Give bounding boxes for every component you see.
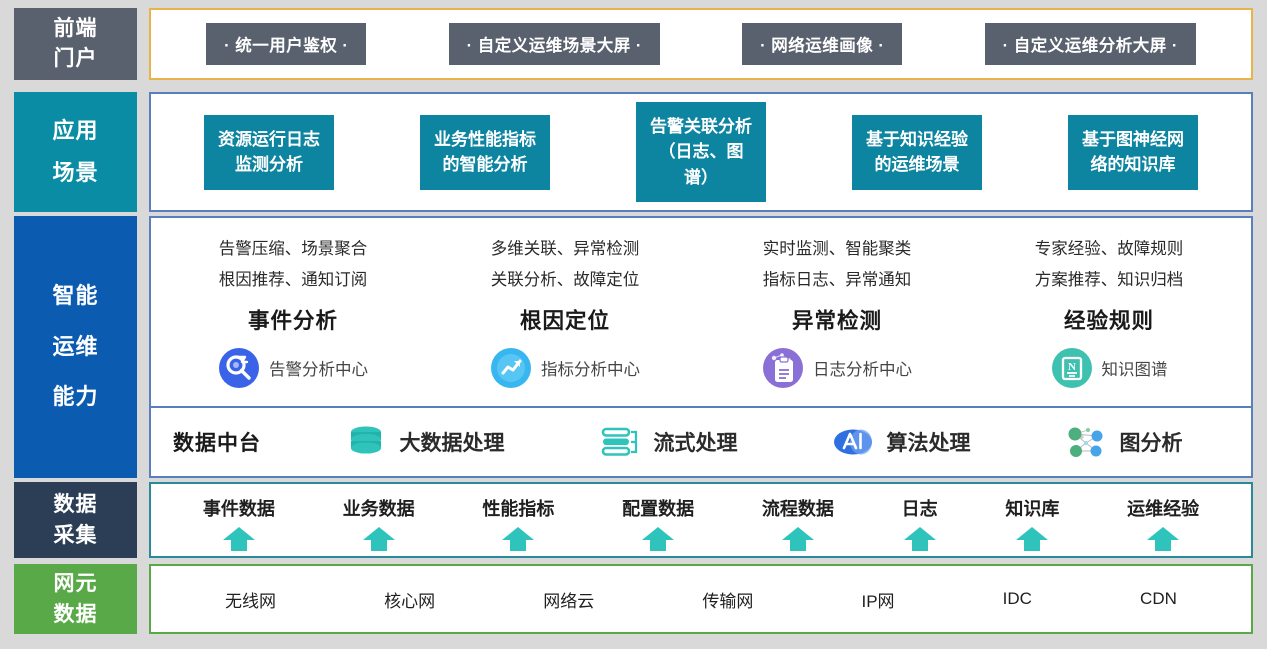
row-aiops-capability: 智能 运维 能力 告警压缩、场景聚合 根因推荐、通知订阅 事件分析 [0,216,1267,478]
collection-label-line2: 采集 [54,520,98,552]
database-icon [344,423,388,461]
ne-item-core-network[interactable]: 核心网 [384,587,435,612]
scenario-chip-business-kpi[interactable]: 业务性能指标 的智能分析 [420,115,550,190]
platform-item-stream[interactable]: 流式处理 [598,423,738,461]
collection-item-label: 知识库 [1005,495,1059,521]
portal-chip-custom-ops-dashboard[interactable]: · 自定义运维场景大屏 · [449,23,660,65]
capability-icon-label: 知识图谱 [1102,356,1168,380]
collection-item-process-data[interactable]: 流程数据 [762,495,834,552]
platform-item-label: 图分析 [1120,427,1183,457]
ne-item-ip-network[interactable]: IP网 [861,587,894,612]
collection-panel: 事件数据 业务数据 性能指标 [149,482,1253,558]
capability-icon-label: 日志分析中心 [813,356,912,380]
ne-label-line1: 网元 [54,568,98,600]
collection-item-label: 流程数据 [762,495,834,521]
collection-item-logs[interactable]: 日志 [902,495,938,552]
capability-title: 异常检测 [792,304,882,335]
capability-desc: 多维关联、异常检测 关联分析、故障定位 [491,234,640,295]
arrow-up-icon [500,526,536,552]
capability-title: 经验规则 [1064,304,1154,335]
ne-item-network-cloud[interactable]: 网络云 [543,587,594,612]
graph-network-icon [1064,423,1108,461]
arrow-up-icon [780,526,816,552]
svg-text:N: N [1068,361,1076,373]
ne-item-wireless[interactable]: 无线网 [225,587,276,612]
collection-item-label: 业务数据 [343,495,415,521]
portal-label-line1: 前端 [54,14,98,44]
capability-title: 根因定位 [520,304,610,335]
capability-label-line2: 运维 [52,322,98,373]
capability-icon-label: 告警分析中心 [269,356,368,380]
capability-column-event-analysis: 告警压缩、场景聚合 根因推荐、通知订阅 事件分析 告 [157,234,429,396]
collection-item-label: 运维经验 [1127,495,1199,521]
capability-icon-row[interactable]: N 知识图谱 [1051,347,1168,389]
collection-item-label: 配置数据 [622,495,694,521]
capability-desc: 告警压缩、场景聚合 根因推荐、通知订阅 [219,234,368,295]
capability-column-anomaly-detection: 实时监测、智能聚类 指标日志、异常通知 异常检测 [701,234,973,396]
portal-chip-network-ops-profile[interactable]: · 网络运维画像 · [742,23,902,65]
capability-icon-row[interactable]: 指标分析中心 [490,347,640,389]
ne-label-line2: 数据 [54,599,98,631]
row-network-element-data: 网元 数据 无线网 核心网 网络云 传输网 IP网 IDC CDN [0,564,1267,634]
collection-items: 事件数据 业务数据 性能指标 [169,489,1233,552]
collection-item-label: 日志 [902,495,938,521]
row-label-application-scenarios: 应用 场景 [14,92,137,212]
row-label-front-end-portal: 前端 门户 [14,8,137,80]
arrow-up-icon [1014,526,1050,552]
arrow-up-icon [221,526,257,552]
arrow-up-icon [902,526,938,552]
capability-icon-row[interactable]: 日志分析中心 [762,347,912,389]
trend-chart-icon [490,347,532,389]
portal-panel: · 统一用户鉴权 · · 自定义运维场景大屏 · · 网络运维画像 · · 自定… [149,8,1253,80]
row-label-data-collection: 数据 采集 [14,482,137,558]
capability-icon-label: 指标分析中心 [541,356,640,380]
ne-item-idc[interactable]: IDC [1003,589,1032,609]
platform-item-algorithm[interactable]: 算法处理 [831,423,971,461]
platform-item-label: 大数据处理 [400,427,505,457]
collection-item-business-data[interactable]: 业务数据 [343,495,415,552]
arrow-up-icon [361,526,397,552]
capability-icon-row[interactable]: 告警分析中心 [218,347,368,389]
capability-label-line1: 智能 [52,271,98,322]
collection-item-label: 事件数据 [203,495,275,521]
platform-item-graph-analysis[interactable]: 图分析 [1064,423,1183,461]
scenario-chip-gnn-knowledge-base[interactable]: 基于图神经网 络的知识库 [1068,115,1198,190]
scenario-panel: 资源运行日志 监测分析 业务性能指标 的智能分析 告警关联分析 （日志、图谱） … [149,92,1253,212]
row-label-network-element-data: 网元 数据 [14,564,137,634]
collection-item-knowledge-base[interactable]: 知识库 [1005,495,1059,552]
data-platform-title: 数据中台 [173,427,261,457]
row-application-scenarios: 应用 场景 资源运行日志 监测分析 业务性能指标 的智能分析 告警关联分析 （日… [0,92,1267,212]
knowledge-doc-icon: N [1051,347,1093,389]
platform-item-big-data[interactable]: 大数据处理 [344,423,505,461]
collection-item-performance-kpi[interactable]: 性能指标 [482,495,554,552]
clipboard-log-icon [762,347,804,389]
portal-chip-auth[interactable]: · 统一用户鉴权 · [206,23,366,65]
aiops-architecture-diagram: 前端 门户 · 统一用户鉴权 · · 自定义运维场景大屏 · · 网络运维画像 … [0,0,1267,649]
collection-item-label: 性能指标 [482,495,554,521]
collection-label-line1: 数据 [54,489,98,521]
scenario-chip-resource-log[interactable]: 资源运行日志 监测分析 [204,115,334,190]
portal-chip-custom-analysis-dashboard[interactable]: · 自定义运维分析大屏 · [985,23,1196,65]
capability-title: 事件分析 [248,304,338,335]
scenario-chip-knowledge-ops[interactable]: 基于知识经验 的运维场景 [852,115,982,190]
arrow-up-icon [1145,526,1181,552]
collection-item-event-data[interactable]: 事件数据 [203,495,275,552]
collection-item-config-data[interactable]: 配置数据 [622,495,694,552]
arrow-up-icon [640,526,676,552]
ne-item-cdn[interactable]: CDN [1140,589,1177,609]
scenario-label-line2: 场景 [52,152,98,194]
capability-desc: 专家经验、故障规则 方案推荐、知识归档 [1035,234,1184,295]
collection-item-ops-experience[interactable]: 运维经验 [1127,495,1199,552]
stream-flow-icon [598,423,642,461]
row-label-aiops-capability: 智能 运维 能力 [14,216,137,478]
scenario-label-line1: 应用 [52,110,98,152]
capability-panel: 告警压缩、场景聚合 根因推荐、通知订阅 事件分析 告 [149,216,1253,408]
alert-search-icon [218,347,260,389]
capability-label-line3: 能力 [52,372,98,423]
ai-icon [831,423,875,461]
portal-label-line2: 门户 [54,44,98,74]
platform-item-label: 算法处理 [887,427,971,457]
capability-desc: 实时监测、智能聚类 指标日志、异常通知 [763,234,912,295]
row-front-end-portal: 前端 门户 · 统一用户鉴权 · · 自定义运维场景大屏 · · 网络运维画像 … [0,8,1267,80]
platform-item-label: 流式处理 [654,427,738,457]
network-element-panel: 无线网 核心网 网络云 传输网 IP网 IDC CDN [149,564,1253,634]
capability-column-root-cause: 多维关联、异常检测 关联分析、故障定位 根因定位 指标分析中心 [429,234,701,396]
capability-stack: 告警压缩、场景聚合 根因推荐、通知订阅 事件分析 告 [149,216,1253,478]
capability-column-experience-rules: 专家经验、故障规则 方案推荐、知识归档 经验规则 N [973,234,1245,396]
scenario-chip-alarm-correlation[interactable]: 告警关联分析 （日志、图谱） [636,102,766,203]
data-platform-items: 大数据处理 流式处理 [297,423,1229,461]
ne-item-transport-network[interactable]: 传输网 [702,587,753,612]
data-platform-panel: 数据中台 大数据处理 [149,408,1253,478]
row-data-collection: 数据 采集 事件数据 业务数据 性能指标 [0,482,1267,558]
